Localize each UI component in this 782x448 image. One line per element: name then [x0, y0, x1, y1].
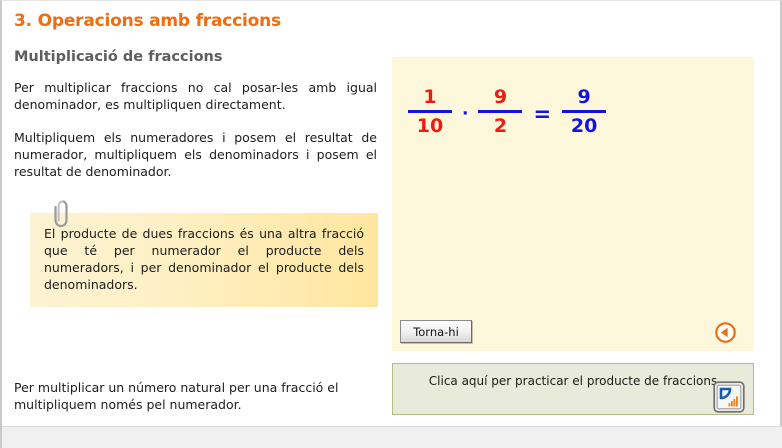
- fraction-second-denominator: 2: [488, 116, 513, 136]
- multiplication-operator: ·: [454, 104, 476, 124]
- fraction-first-denominator: 10: [411, 116, 449, 136]
- paragraph-intro: Per multiplicar fraccions no cal posar-l…: [14, 79, 377, 113]
- lesson-page: 3. Operacions amb fraccions Multiplicaci…: [0, 0, 782, 448]
- fraction-second-numerator: 9: [488, 87, 513, 107]
- fraction-result-numerator: 9: [571, 87, 596, 107]
- retry-button[interactable]: Torna-hi: [400, 320, 472, 343]
- fraction-equation: 1 10 · 9 2 = 9 20: [406, 87, 608, 136]
- lesson-text-column: Per multiplicar fraccions no cal posar-l…: [14, 79, 377, 196]
- note-text: El producte de dues fraccions és una alt…: [44, 225, 364, 293]
- note-box: El producte de dues fraccions és una alt…: [30, 213, 378, 307]
- fraction-result-bar: [562, 110, 606, 113]
- section-subtitle: Multiplicació de fraccions: [14, 49, 222, 65]
- fraction-first-numerator: 1: [417, 87, 442, 107]
- paragraph-method: Multipliquem els numeradores i posem el …: [14, 129, 377, 180]
- example-panel: 1 10 · 9 2 = 9 20: [392, 57, 754, 351]
- paragraph-natural-number: Per multiplicar un número natural per un…: [14, 379, 377, 413]
- equals-operator: =: [524, 102, 560, 126]
- fraction-first: 1 10: [408, 87, 452, 136]
- fraction-second: 9 2: [478, 87, 522, 136]
- page-title: 3. Operacions amb fraccions: [14, 11, 281, 31]
- chart-app-icon[interactable]: [713, 381, 745, 413]
- fraction-result-denominator: 20: [565, 116, 603, 136]
- fraction-result: 9 20: [562, 87, 606, 136]
- fraction-second-bar: [478, 110, 522, 113]
- highlight-note: El producte de dues fraccions és una alt…: [30, 213, 378, 307]
- practice-cta-text: Clica aquí per practicar el producte de …: [429, 374, 717, 388]
- footer-strip: [2, 426, 782, 448]
- fraction-first-bar: [408, 110, 452, 113]
- back-arrow-circle-icon[interactable]: [715, 322, 736, 343]
- practice-cta-panel[interactable]: Clica aquí per practicar el producte de …: [392, 363, 754, 415]
